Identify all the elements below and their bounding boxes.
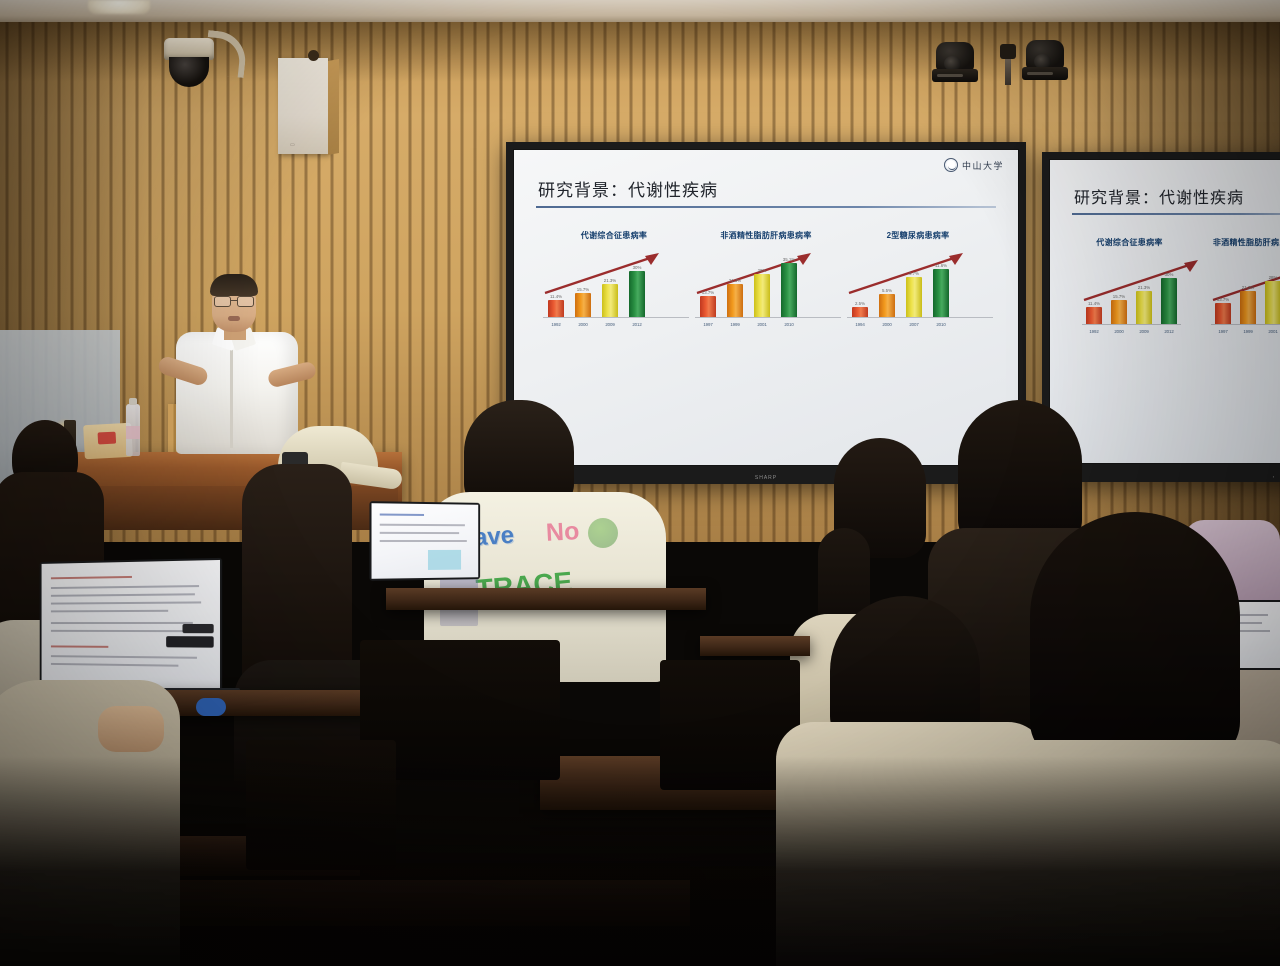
charts-row: 代谢综合征患病率11.4%15.7%21.3%30%19922000200920…	[528, 230, 1004, 327]
chart-bar-group: 5.5%	[878, 288, 896, 317]
slide-title: 研究背景：代谢性疾病	[538, 176, 1004, 201]
chart-x-axis	[543, 317, 689, 318]
ptz-base	[1022, 67, 1068, 80]
chart-bar	[1161, 278, 1177, 324]
ptz-body	[936, 42, 974, 72]
bar-value-label: 13.7%	[1217, 297, 1229, 302]
bar-chart: 代谢综合征患病率11.4%15.7%21.3%30%19922000200920…	[539, 230, 689, 327]
chart-bar	[781, 263, 797, 317]
x-tick-label: 2012	[628, 322, 646, 327]
chart-x-axis	[847, 317, 993, 318]
chart-bar	[1111, 300, 1127, 324]
laptop-lid	[369, 501, 480, 581]
chart-bar-group: 28%	[753, 268, 771, 317]
wall-speaker: ▭	[278, 58, 328, 154]
chart-x-axis	[695, 317, 841, 318]
bar-value-label: 21.3%	[729, 278, 741, 283]
chart-bar	[754, 274, 770, 317]
screen-chart	[428, 550, 461, 570]
presenter-hair	[210, 274, 258, 296]
bar-value-label: 11.4%	[1088, 301, 1100, 306]
chart-x-axis	[1211, 324, 1280, 325]
chart-bar	[879, 294, 895, 317]
bar-chart: 非酒精性脂肪肝病患病率13.7%21.3%28%35.1%19971999200…	[1207, 237, 1280, 334]
bar-chart: 非酒精性脂肪肝病患病率13.7%21.3%28%35.1%19971999200…	[691, 230, 841, 327]
chart-bar	[933, 269, 949, 317]
bar-value-label: 15.7%	[1113, 294, 1125, 299]
desk	[386, 588, 706, 610]
dome-camera	[160, 38, 218, 100]
chart-bar	[548, 300, 564, 317]
bar-value-label: 28%	[1269, 275, 1278, 280]
bar-value-label: 5.5%	[882, 288, 892, 293]
chart-bar-group: 11.4%	[1086, 301, 1102, 324]
chart-x-tick-labels: 1992200020092012	[1086, 329, 1177, 334]
chart-plot-area: 13.7%21.3%28%35.1%1997199920012010	[691, 247, 841, 327]
chart-bar	[700, 296, 716, 317]
chart-bar-group: 21.3%	[1136, 285, 1152, 324]
bar-value-label: 9.7%	[909, 271, 919, 276]
foreground-audience-member	[0, 680, 200, 966]
slide-title-underline	[1072, 213, 1280, 215]
chart-title: 非酒精性脂肪肝病患病率	[1207, 237, 1280, 248]
bar-chart: 代谢综合征患病率11.4%15.7%21.3%30%19922000200920…	[1078, 237, 1181, 334]
chart-x-tick-labels: 1997199920012010	[699, 322, 837, 327]
laptop-screen[interactable]	[372, 503, 479, 579]
laptop-lid	[40, 558, 222, 692]
chart-x-tick-labels: 1992200020092012	[547, 322, 685, 327]
chart-bars: 13.7%21.3%28%35.1%	[1215, 254, 1280, 324]
x-tick-label: 1997	[1215, 329, 1231, 334]
bar-value-label: 11.6%	[935, 263, 947, 268]
ceiling-light	[88, 0, 150, 14]
x-tick-label: 2001	[753, 322, 771, 327]
university-logo-text: 中山大学	[962, 159, 1004, 172]
chart-title: 代谢综合征患病率	[1078, 237, 1181, 248]
x-tick-label: 1994	[851, 322, 869, 327]
sanitizer-bottle	[126, 404, 140, 456]
bar-value-label: 21.3%	[1242, 285, 1254, 290]
bottle-cap	[129, 398, 137, 405]
bar-value-label: 11.4%	[550, 294, 562, 299]
bar-value-label: 15.7%	[577, 287, 589, 292]
chart-bar	[575, 293, 591, 317]
ptz-body	[1026, 40, 1064, 70]
chart-bar	[1136, 291, 1152, 324]
x-tick-label: 1992	[1086, 329, 1102, 334]
x-tick-label: 2009	[601, 322, 619, 327]
microphone-stem	[1005, 59, 1011, 85]
eyeglasses-icon	[214, 296, 254, 305]
chart-plot-area: 11.4%15.7%21.3%30%1992200020092012	[539, 247, 689, 327]
ceiling-microphone	[1000, 44, 1016, 84]
torso	[980, 740, 1280, 966]
x-tick-label: 2000	[878, 322, 896, 327]
chart-bar	[1215, 303, 1231, 324]
bar-value-label: 35.1%	[783, 257, 795, 262]
screen-widget	[182, 624, 213, 633]
bar-value-label: 21.3%	[604, 278, 616, 283]
slide-title: 研究背景：代谢性疾病	[1074, 184, 1280, 208]
chart-bar-group: 30%	[628, 265, 646, 317]
charts-row: 代谢综合征患病率11.4%15.7%21.3%30%19922000200920…	[1064, 237, 1280, 334]
speaker-brand-label: ▭	[290, 142, 295, 148]
chart-title: 2型糖尿病患病率	[843, 230, 993, 241]
chart-bar-group: 2.5%	[851, 301, 869, 317]
chart-bar	[1265, 281, 1280, 324]
university-seal-icon	[944, 158, 958, 172]
lecture-hall-scene: ▭ 中山大学 研究背景：代谢性疾病 代谢综合征患病率11.4%15.7%21.3…	[0, 0, 1280, 966]
chart-bar-group: 13.7%	[1215, 297, 1231, 324]
chart-x-axis	[1082, 324, 1181, 325]
chart-bar	[629, 271, 645, 317]
foreground-audience-member	[990, 512, 1280, 966]
chart-bars: 13.7%21.3%28%35.1%	[699, 247, 837, 317]
chart-title: 非酒精性脂肪肝病患病率	[691, 230, 841, 241]
chart-bar	[727, 284, 743, 317]
chart-bar-group: 35.1%	[780, 257, 798, 317]
tee-text-line2: No	[545, 517, 580, 548]
display-control-strip: ▪ ▪ ▪ ▪ ▪ ▪ ▪ ▪	[1273, 474, 1280, 479]
bar-value-label: 30%	[1165, 272, 1174, 277]
tee-circle-graphic	[588, 518, 618, 548]
chart-bar-group: 30%	[1161, 272, 1177, 324]
shirt-placket	[230, 338, 233, 448]
chart-bars: 2.5%5.5%9.7%11.6%	[851, 247, 989, 317]
bar-value-label: 21.3%	[1138, 285, 1150, 290]
x-tick-label: 1997	[699, 322, 717, 327]
x-tick-label: 2007	[905, 322, 923, 327]
chart-bar-group: 13.7%	[699, 290, 717, 317]
x-tick-label: 1992	[547, 322, 565, 327]
chart-bar-group: 15.7%	[574, 287, 592, 317]
bar-value-label: 2.5%	[855, 301, 865, 306]
microphone-head-icon	[1000, 44, 1016, 59]
chart-bar-group: 15.7%	[1111, 294, 1127, 324]
chart-bar-group: 11.6%	[932, 263, 950, 317]
slide-title-underline	[536, 206, 996, 208]
x-tick-label: 2001	[1265, 329, 1280, 334]
x-tick-label: 2000	[574, 322, 592, 327]
chart-x-tick-labels: 1994200020072010	[851, 322, 989, 327]
display-brand-label: SHARP	[755, 475, 777, 481]
x-tick-label: 2010	[932, 322, 950, 327]
x-tick-label: 2009	[1136, 329, 1152, 334]
chart-bars: 11.4%15.7%21.3%30%	[1086, 254, 1177, 324]
chair-back	[246, 740, 396, 870]
ptz-base	[932, 69, 978, 82]
bar-value-label: 30%	[633, 265, 642, 270]
x-tick-label: 1999	[1240, 329, 1256, 334]
chart-bars: 11.4%15.7%21.3%30%	[547, 247, 685, 317]
chart-x-tick-labels: 1997199920012010	[1215, 329, 1280, 334]
university-logo: 中山大学	[944, 158, 1004, 172]
speaker-side-panel	[328, 59, 339, 155]
chart-plot-area: 11.4%15.7%21.3%30%1992200020092012	[1078, 254, 1181, 334]
chart-plot-area: 13.7%21.3%28%35.1%1997199920012010	[1207, 254, 1280, 334]
chart-bar	[1086, 307, 1102, 324]
screen-widget	[166, 636, 214, 648]
hand	[98, 706, 164, 752]
x-tick-label: 2010	[780, 322, 798, 327]
bottle-label	[126, 426, 140, 439]
chart-bar	[602, 284, 618, 317]
chart-bar	[906, 277, 922, 317]
camera-dome-icon	[169, 57, 209, 87]
chart-plot-area: 2.5%5.5%9.7%11.6%1994200020072010	[843, 247, 993, 327]
x-tick-label: 2012	[1161, 329, 1177, 334]
chart-bar-group: 9.7%	[905, 271, 923, 317]
bar-value-label: 28%	[758, 268, 767, 273]
chart-title: 代谢综合征患病率	[539, 230, 689, 241]
x-tick-label: 2000	[1111, 329, 1127, 334]
chart-bar-group: 11.4%	[547, 294, 565, 317]
ptz-camera-left	[932, 36, 978, 88]
bar-value-label: 13.7%	[702, 290, 714, 295]
chart-bar-group: 21.3%	[601, 278, 619, 317]
ptz-camera-right	[1022, 34, 1068, 86]
laptop-screen[interactable]	[42, 560, 220, 690]
chart-bar	[852, 307, 868, 317]
presenter-mouth	[228, 316, 240, 321]
wall-fixture-knob	[308, 50, 319, 61]
desk	[170, 880, 690, 926]
chart-bar	[1240, 291, 1256, 324]
chart-bar-group: 28%	[1265, 275, 1280, 324]
scissors-icon	[196, 698, 226, 716]
bar-chart: 2型糖尿病患病率2.5%5.5%9.7%11.6%199420002007201…	[843, 230, 993, 327]
chart-bar-group: 21.3%	[726, 278, 744, 317]
x-tick-label: 1999	[726, 322, 744, 327]
chart-bar-group: 21.3%	[1240, 285, 1256, 324]
hair	[1030, 512, 1240, 762]
